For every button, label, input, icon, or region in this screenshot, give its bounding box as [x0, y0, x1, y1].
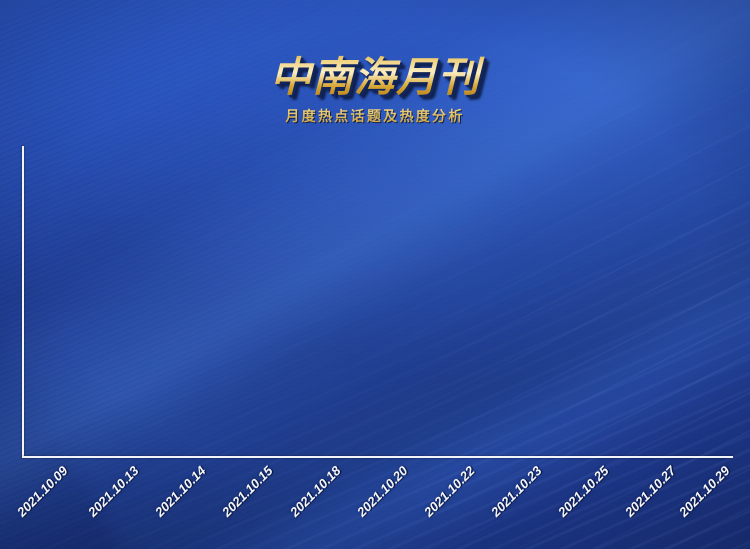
- poster-header: 中南海月刊 月度热点话题及热度分析: [0, 0, 750, 124]
- page-subtitle: 月度热点话题及热度分析: [0, 98, 750, 124]
- poster-canvas: 中南海月刊 月度热点话题及热度分析 2021.10.092021.10.1320…: [0, 0, 750, 549]
- page-title: 中南海月刊: [0, 0, 750, 98]
